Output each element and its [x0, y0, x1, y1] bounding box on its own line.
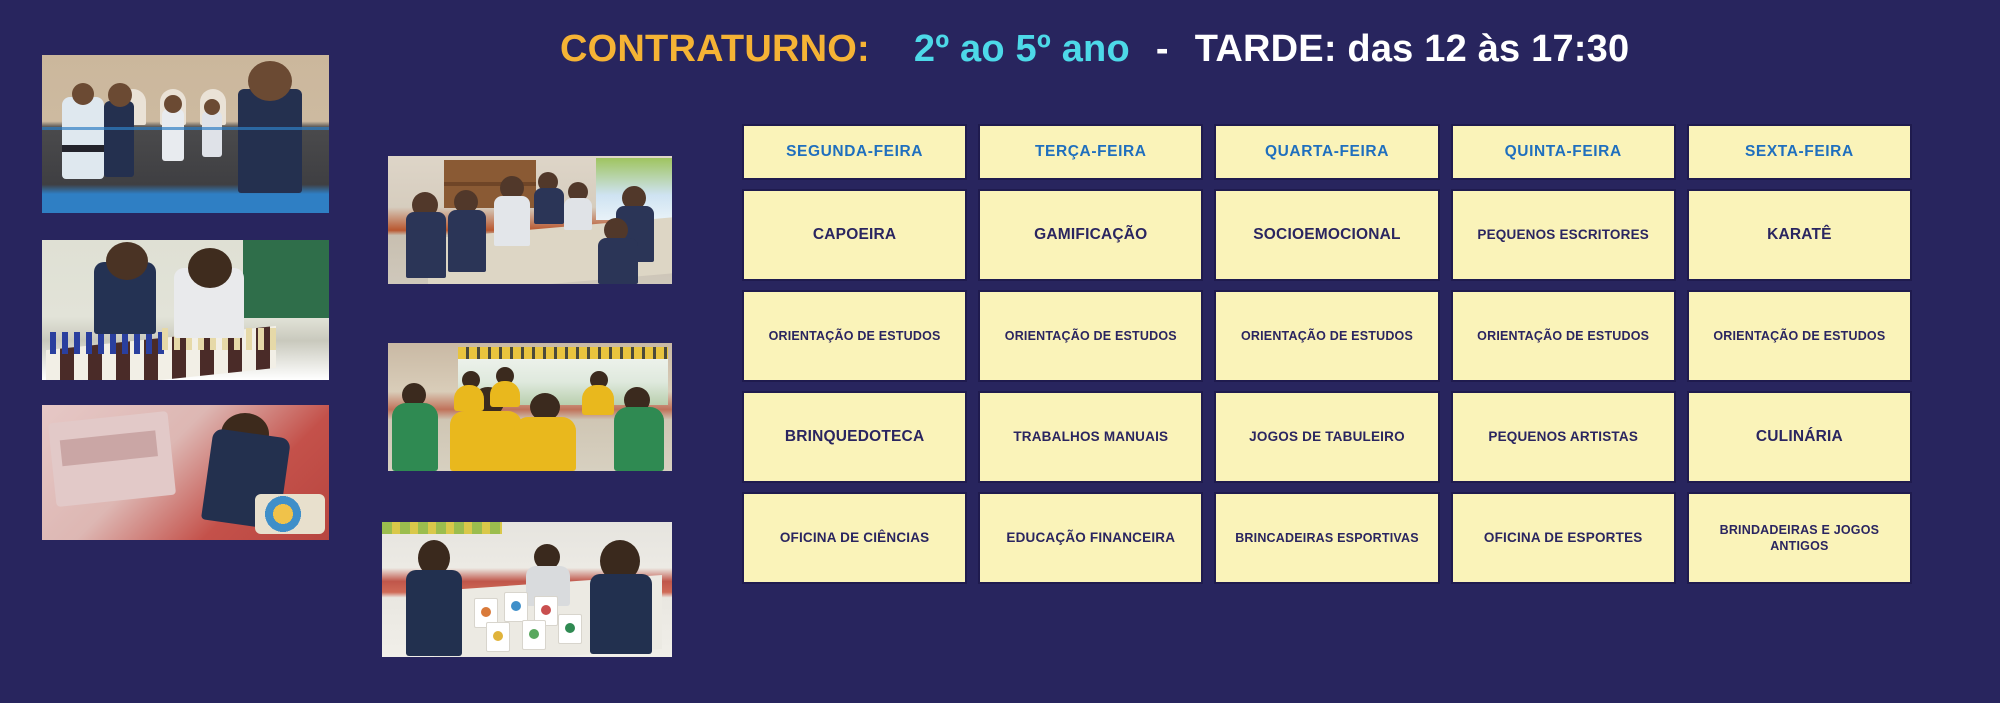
title-contraturno-label: CONTRATURNO:: [560, 30, 870, 68]
schedule-cell-r3-c3: JOGOS DE TABULEIRO: [1214, 391, 1439, 483]
schedule-header-4: QUINTA-FEIRA: [1451, 124, 1676, 180]
schedule-cell-r3-c4: PEQUENOS ARTISTAS: [1451, 391, 1676, 483]
title-period: TARDE: das 12 às 17:30: [1195, 30, 1630, 68]
schedule-cell-r3-c2: TRABALHOS MANUAIS: [978, 391, 1203, 483]
photo-activity-table: [42, 405, 329, 540]
schedule-header-1: SEGUNDA-FEIRA: [742, 124, 967, 180]
schedule-header-2: TERÇA-FEIRA: [978, 124, 1203, 180]
schedule-cell-r3-c1: BRINQUEDOTECA: [742, 391, 967, 483]
page-title: CONTRATURNO: 2º ao 5º ano - TARDE: das 1…: [560, 18, 1860, 80]
schedule-header-5: SEXTA-FEIRA: [1687, 124, 1912, 180]
schedule-cell-r4-c5: BRINDADEIRAS E JOGOS ANTIGOS: [1687, 492, 1912, 584]
schedule-cell-r4-c2: EDUCAÇÃO FINANCEIRA: [978, 492, 1203, 584]
schedule-cell-r3-c5: CULINÁRIA: [1687, 391, 1912, 483]
schedule-cell-r1-c3: SOCIOEMOCIONAL: [1214, 189, 1439, 281]
schedule-table: SEGUNDA-FEIRATERÇA-FEIRAQUARTA-FEIRAQUIN…: [742, 124, 1912, 584]
schedule-cell-r1-c2: GAMIFICAÇÃO: [978, 189, 1203, 281]
schedule-cell-r4-c1: OFICINA DE CIÊNCIAS: [742, 492, 967, 584]
schedule-cell-r1-c5: KARATÊ: [1687, 189, 1912, 281]
title-grade-range: 2º ao 5º ano: [914, 30, 1130, 68]
schedule-cell-r4-c3: BRINCADEIRAS ESPORTIVAS: [1214, 492, 1439, 584]
photo-karate-class: [42, 55, 329, 213]
title-separator: -: [1156, 30, 1169, 68]
schedule-cell-r2-c5: ORIENTAÇÃO DE ESTUDOS: [1687, 290, 1912, 382]
schedule-cell-r2-c4: ORIENTAÇÃO DE ESTUDOS: [1451, 290, 1676, 382]
schedule-header-3: QUARTA-FEIRA: [1214, 124, 1439, 180]
schedule-cell-r2-c3: ORIENTAÇÃO DE ESTUDOS: [1214, 290, 1439, 382]
photo-chess-game: [42, 240, 329, 380]
photo-smocks-workshop: [388, 343, 672, 471]
schedule-cell-r4-c4: OFICINA DE ESPORTES: [1451, 492, 1676, 584]
schedule-cell-r2-c2: ORIENTAÇÃO DE ESTUDOS: [978, 290, 1203, 382]
schedule-cell-r1-c4: PEQUENOS ESCRITORES: [1451, 189, 1676, 281]
photo-classroom-long-table: [388, 156, 672, 284]
photo-card-game: [382, 522, 672, 657]
schedule-cell-r2-c1: ORIENTAÇÃO DE ESTUDOS: [742, 290, 967, 382]
schedule-cell-r1-c1: CAPOEIRA: [742, 189, 967, 281]
